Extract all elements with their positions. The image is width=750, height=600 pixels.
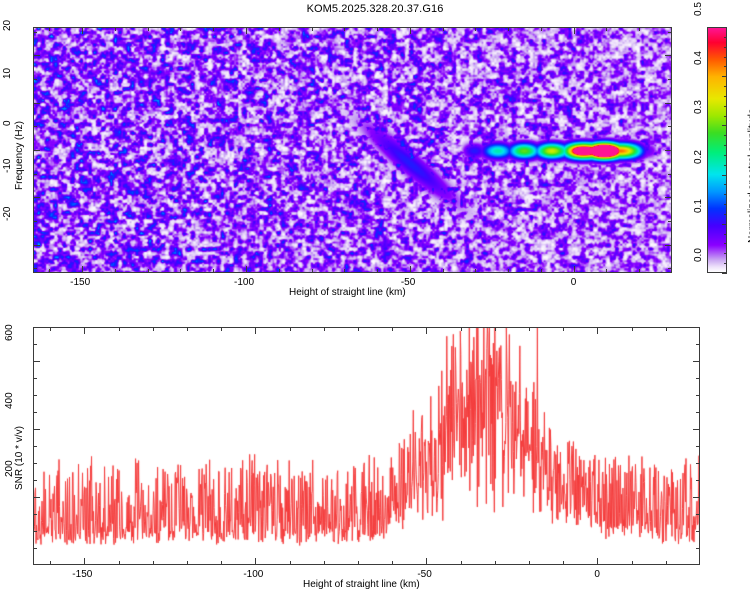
axis-tick bbox=[119, 561, 120, 565]
axis-tick bbox=[693, 429, 700, 430]
axis-tick bbox=[665, 55, 672, 56]
axis-tick bbox=[255, 558, 256, 565]
axis-tick bbox=[377, 269, 378, 273]
snr-xtick-label: 0 bbox=[594, 569, 600, 580]
axis-tick bbox=[724, 96, 727, 97]
axis-tick bbox=[33, 497, 40, 498]
axis-tick bbox=[665, 150, 672, 151]
spectrogram-ytick-label: -10 bbox=[2, 159, 13, 173]
axis-tick bbox=[668, 174, 672, 175]
spectrogram-xtick-label: -150 bbox=[70, 277, 90, 288]
axis-tick bbox=[597, 558, 598, 565]
snr-xtick-label: -150 bbox=[72, 569, 92, 580]
colorbar-tick-label: 0.1 bbox=[693, 199, 704, 213]
axis-tick bbox=[82, 266, 83, 273]
axis-tick bbox=[495, 327, 496, 331]
axis-tick bbox=[724, 243, 727, 244]
snr-xtick-label: -100 bbox=[243, 569, 263, 580]
axis-tick bbox=[33, 79, 37, 80]
axis-tick bbox=[574, 27, 575, 34]
axis-tick bbox=[724, 263, 727, 264]
axis-tick bbox=[574, 266, 575, 273]
axis-tick bbox=[696, 548, 700, 549]
axis-tick bbox=[33, 344, 37, 345]
axis-tick bbox=[696, 344, 700, 345]
colorbar bbox=[707, 27, 727, 273]
snr-panel bbox=[33, 327, 700, 565]
axis-tick bbox=[187, 561, 188, 565]
axis-tick bbox=[606, 269, 607, 273]
axis-tick bbox=[724, 135, 727, 136]
figure-canvas: KOM5.2025.328.20.37.G16 -150-100-500-20-… bbox=[0, 0, 750, 600]
axis-tick bbox=[724, 224, 727, 225]
axis-tick bbox=[696, 446, 700, 447]
axis-tick bbox=[153, 327, 154, 331]
axis-tick bbox=[443, 27, 444, 31]
axis-tick bbox=[49, 27, 50, 31]
axis-tick bbox=[119, 327, 120, 331]
axis-tick bbox=[724, 165, 727, 166]
figure-title: KOM5.2025.328.20.37.G16 bbox=[0, 3, 750, 15]
axis-tick bbox=[563, 561, 564, 565]
snr-x-axis-label: Height of straight line (km) bbox=[303, 579, 420, 590]
axis-tick bbox=[724, 234, 727, 235]
axis-tick bbox=[180, 269, 181, 273]
axis-tick bbox=[221, 327, 222, 331]
axis-tick bbox=[724, 106, 727, 107]
colorbar-tick-label: 0.0 bbox=[693, 248, 704, 262]
axis-tick bbox=[213, 269, 214, 273]
axis-tick bbox=[724, 116, 727, 117]
axis-tick bbox=[696, 378, 700, 379]
axis-tick bbox=[724, 184, 727, 185]
axis-tick bbox=[668, 221, 672, 222]
axis-tick bbox=[312, 27, 313, 31]
axis-tick bbox=[324, 327, 325, 331]
axis-tick bbox=[279, 27, 280, 31]
axis-tick bbox=[461, 561, 462, 565]
axis-tick bbox=[724, 204, 727, 205]
axis-tick bbox=[33, 514, 37, 515]
axis-tick bbox=[33, 548, 37, 549]
axis-tick bbox=[606, 27, 607, 31]
axis-tick bbox=[410, 27, 411, 34]
axis-tick bbox=[665, 197, 672, 198]
axis-tick bbox=[724, 47, 727, 48]
axis-tick bbox=[148, 269, 149, 273]
axis-tick bbox=[722, 27, 727, 28]
axis-tick bbox=[33, 412, 37, 413]
axis-tick bbox=[213, 27, 214, 31]
axis-tick bbox=[724, 194, 727, 195]
axis-tick bbox=[632, 561, 633, 565]
axis-tick bbox=[410, 266, 411, 273]
axis-tick bbox=[377, 27, 378, 31]
axis-tick bbox=[153, 561, 154, 565]
axis-tick bbox=[279, 269, 280, 273]
axis-tick bbox=[33, 32, 37, 33]
axis-tick bbox=[724, 76, 727, 77]
axis-tick bbox=[358, 561, 359, 565]
axis-tick bbox=[475, 27, 476, 31]
spectrogram-xtick-label: -100 bbox=[234, 277, 254, 288]
axis-tick bbox=[33, 126, 37, 127]
axis-tick bbox=[33, 480, 37, 481]
axis-tick bbox=[33, 55, 40, 56]
axis-tick bbox=[49, 269, 50, 273]
axis-tick bbox=[665, 103, 672, 104]
axis-tick bbox=[632, 327, 633, 331]
axis-tick bbox=[508, 269, 509, 273]
axis-tick bbox=[33, 197, 40, 198]
axis-tick bbox=[693, 497, 700, 498]
axis-tick bbox=[668, 268, 672, 269]
axis-tick bbox=[148, 27, 149, 31]
axis-tick bbox=[82, 27, 83, 34]
axis-tick bbox=[187, 327, 188, 331]
axis-tick bbox=[666, 561, 667, 565]
axis-tick bbox=[33, 361, 40, 362]
axis-tick bbox=[724, 155, 727, 156]
axis-tick bbox=[696, 395, 700, 396]
axis-tick bbox=[33, 378, 37, 379]
axis-tick bbox=[33, 103, 40, 104]
snr-ytick-label: 600 bbox=[4, 324, 15, 341]
axis-tick bbox=[724, 145, 727, 146]
axis-tick bbox=[696, 480, 700, 481]
axis-tick bbox=[33, 531, 37, 532]
colorbar-tick-label: 0.2 bbox=[693, 150, 704, 164]
axis-tick bbox=[639, 269, 640, 273]
axis-tick bbox=[541, 27, 542, 31]
axis-tick bbox=[722, 273, 727, 274]
axis-tick bbox=[529, 327, 530, 331]
axis-tick bbox=[666, 327, 667, 331]
axis-tick bbox=[246, 27, 247, 34]
axis-tick bbox=[639, 27, 640, 31]
snr-trace bbox=[34, 328, 700, 565]
axis-tick bbox=[344, 269, 345, 273]
axis-tick bbox=[312, 269, 313, 273]
axis-tick bbox=[255, 327, 256, 334]
axis-tick bbox=[668, 126, 672, 127]
axis-tick bbox=[33, 150, 40, 151]
axis-tick bbox=[508, 27, 509, 31]
axis-tick bbox=[426, 558, 427, 565]
spectrogram-y-axis-label: Frequency (Hz) bbox=[14, 121, 25, 190]
spectrogram-image bbox=[34, 28, 672, 273]
axis-tick bbox=[246, 266, 247, 273]
axis-tick bbox=[696, 412, 700, 413]
axis-tick bbox=[324, 561, 325, 565]
axis-tick bbox=[290, 561, 291, 565]
spectrogram-ytick-label: -20 bbox=[2, 206, 13, 220]
spectrogram-ytick-label: 20 bbox=[2, 20, 13, 31]
axis-tick bbox=[392, 327, 393, 331]
axis-tick bbox=[33, 395, 37, 396]
axis-tick bbox=[665, 245, 672, 246]
axis-tick bbox=[33, 463, 37, 464]
colorbar-tick-label: 0.5 bbox=[693, 2, 704, 16]
axis-tick bbox=[696, 463, 700, 464]
spectrogram-ytick-label: 0 bbox=[2, 120, 13, 126]
axis-tick bbox=[84, 558, 85, 565]
axis-tick bbox=[461, 327, 462, 331]
spectrogram-x-axis-label: Height of straight line (km) bbox=[289, 287, 406, 298]
axis-tick bbox=[84, 327, 85, 334]
axis-tick bbox=[115, 27, 116, 31]
axis-tick bbox=[443, 269, 444, 273]
axis-tick bbox=[33, 174, 37, 175]
axis-tick bbox=[724, 175, 727, 176]
axis-tick bbox=[693, 361, 700, 362]
snr-y-axis-label: SNR (10 * v/v) bbox=[14, 426, 25, 490]
axis-tick bbox=[724, 57, 727, 58]
axis-tick bbox=[529, 561, 530, 565]
axis-tick bbox=[50, 561, 51, 565]
colorbar-tick-label: 0.4 bbox=[693, 51, 704, 65]
axis-tick bbox=[696, 531, 700, 532]
axis-tick bbox=[724, 66, 727, 67]
axis-tick bbox=[541, 269, 542, 273]
axis-tick bbox=[724, 86, 727, 87]
axis-tick bbox=[724, 125, 727, 126]
axis-tick bbox=[696, 514, 700, 515]
axis-tick bbox=[392, 561, 393, 565]
spectrogram-ytick-label: 10 bbox=[2, 68, 13, 79]
axis-tick bbox=[475, 269, 476, 273]
colorbar-tick-label: 0.3 bbox=[693, 100, 704, 114]
axis-tick bbox=[33, 245, 40, 246]
axis-tick bbox=[724, 37, 727, 38]
axis-tick bbox=[50, 327, 51, 331]
axis-tick bbox=[33, 268, 37, 269]
axis-tick bbox=[344, 27, 345, 31]
axis-tick bbox=[563, 327, 564, 331]
axis-tick bbox=[290, 327, 291, 331]
axis-tick bbox=[724, 253, 727, 254]
spectrogram-panel bbox=[33, 27, 672, 273]
axis-tick bbox=[33, 221, 37, 222]
spectrogram-xtick-label: 0 bbox=[571, 277, 577, 288]
axis-tick bbox=[495, 561, 496, 565]
axis-tick bbox=[668, 32, 672, 33]
axis-tick bbox=[33, 446, 37, 447]
axis-tick bbox=[33, 429, 40, 430]
axis-tick bbox=[597, 327, 598, 334]
axis-tick bbox=[724, 214, 727, 215]
axis-tick bbox=[668, 79, 672, 80]
axis-tick bbox=[358, 327, 359, 331]
axis-tick bbox=[426, 327, 427, 334]
axis-tick bbox=[115, 269, 116, 273]
snr-ytick-label: 400 bbox=[4, 392, 15, 409]
axis-tick bbox=[221, 561, 222, 565]
axis-tick bbox=[180, 27, 181, 31]
